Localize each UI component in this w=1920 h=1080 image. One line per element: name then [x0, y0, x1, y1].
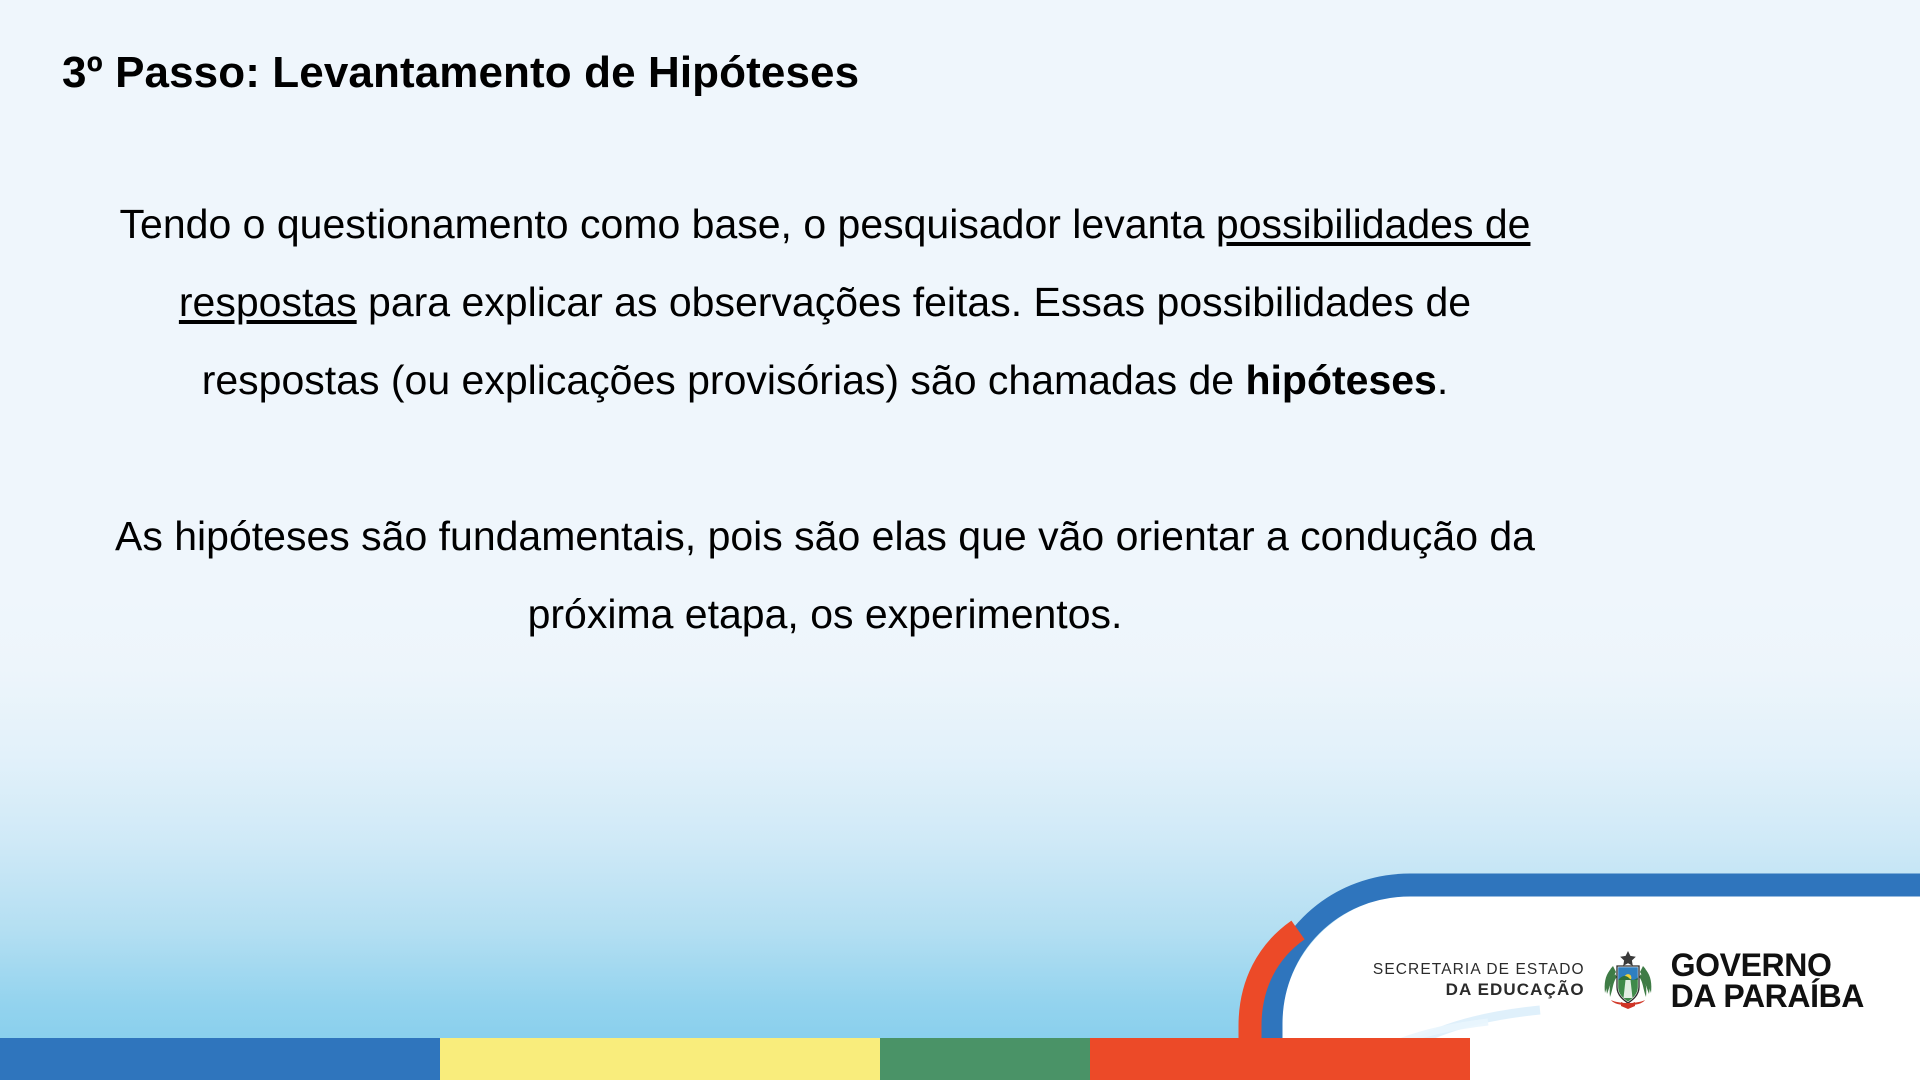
secretaria-line-2: DA EDUCAÇÃO [1373, 980, 1585, 1001]
presentation-slide: 3º Passo: Levantamento de Hipóteses Tend… [0, 0, 1920, 1080]
paragraph-1: Tendo o questionamento como base, o pesq… [85, 185, 1565, 419]
secretaria-wordmark: SECRETARIA DE ESTADO DA EDUCAÇÃO [1373, 961, 1585, 1001]
slide-body: Tendo o questionamento como base, o pesq… [85, 185, 1565, 653]
paragraph-1-part-1: Tendo o questionamento como base, o pesq… [120, 201, 1216, 247]
governo-wordmark: GOVERNO DA PARAÍBA [1671, 950, 1864, 1012]
slide-title: 3º Passo: Levantamento de Hipóteses [62, 48, 859, 98]
color-bar-segment-green [880, 1038, 1090, 1080]
government-logo-lockup: SECRETARIA DE ESTADO DA EDUCAÇÃO [1373, 950, 1864, 1012]
bottom-color-bar [0, 1038, 1920, 1080]
paraiba-coat-of-arms-icon [1601, 950, 1655, 1012]
color-bar-segment-red [1090, 1038, 1470, 1080]
governo-line-2: DA PARAÍBA [1671, 981, 1864, 1012]
secretaria-line-1: SECRETARIA DE ESTADO [1373, 961, 1585, 980]
color-bar-segment-empty [1470, 1038, 1920, 1080]
color-bar-segment-blue [0, 1038, 440, 1080]
governo-line-1: GOVERNO [1671, 950, 1864, 981]
paragraph-1-part-3: . [1437, 357, 1448, 403]
color-bar-segment-yellow [440, 1038, 880, 1080]
paragraph-2: As hipóteses são fundamentais, pois são … [85, 497, 1565, 653]
paragraph-1-bold-term: hipóteses [1245, 357, 1436, 403]
